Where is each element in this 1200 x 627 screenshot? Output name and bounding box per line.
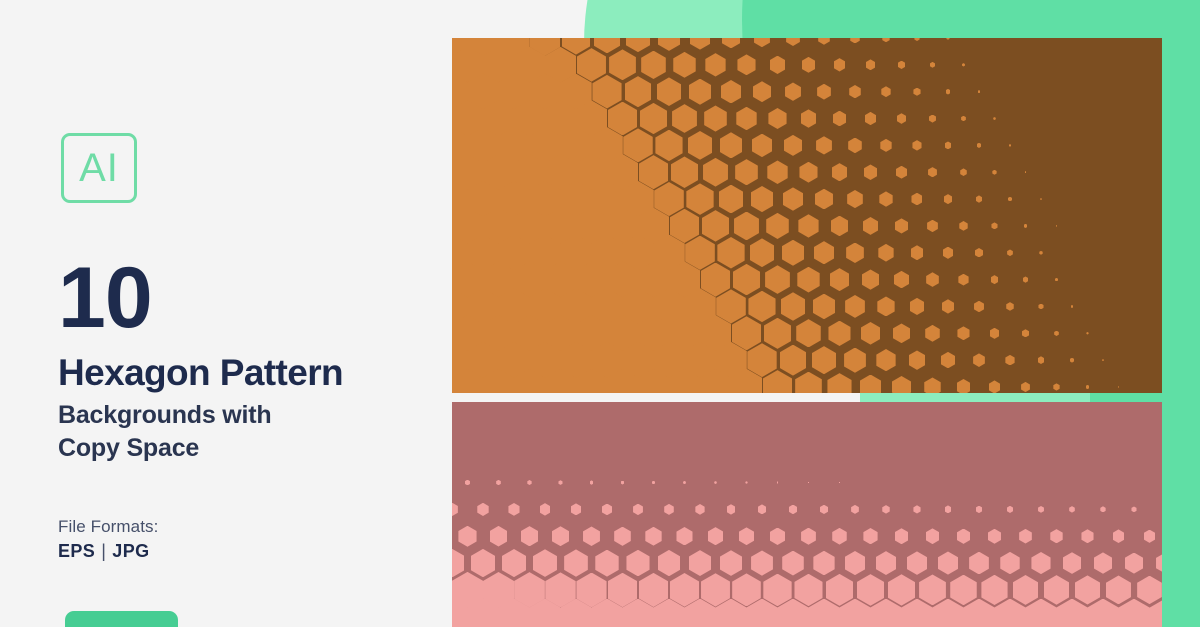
hexagon-cell	[702, 210, 729, 242]
hexagon-cell	[783, 187, 803, 210]
hexagon-cell	[640, 103, 667, 134]
hexagon-cell	[924, 377, 940, 393]
hexagon-cell	[833, 111, 847, 127]
hexagon-cell	[1069, 506, 1075, 513]
hexagon-cell	[1038, 506, 1044, 513]
page-subtitle-line-2: Copy Space	[58, 432, 272, 465]
hexagon-cell	[764, 318, 791, 349]
item-count: 10	[58, 255, 152, 341]
hexagon-cell	[880, 139, 891, 152]
hexagon-cell	[533, 549, 557, 577]
hexagon-cell	[595, 550, 618, 577]
hexagon-grid-orange	[452, 38, 1162, 393]
hexagon-cell	[851, 505, 859, 514]
hexagon-cell	[834, 58, 846, 71]
hexagon-cell	[1023, 276, 1028, 282]
hexagon-cell	[1007, 506, 1013, 513]
hexagon-cell	[594, 38, 621, 53]
hexagon-cell	[945, 141, 952, 149]
hexagon-cell	[714, 481, 717, 484]
hexagon-cell	[1131, 506, 1136, 512]
hexagon-cell	[832, 163, 848, 181]
hexagon-cell	[686, 183, 713, 215]
hexagon-cell	[626, 550, 649, 577]
hexagon-cell	[1044, 575, 1070, 605]
hexagon-cell	[701, 573, 730, 606]
hexagon-cell	[765, 265, 790, 294]
hexagon-cell	[981, 575, 1007, 605]
hexagon-cell	[827, 373, 851, 393]
hexagon-cell	[816, 136, 832, 154]
hexagon-cell	[876, 551, 897, 575]
hexagon-cell	[847, 190, 863, 208]
hexagon-cell	[621, 481, 624, 485]
hexagon-cell	[732, 573, 761, 606]
hexagon-grid-pink	[452, 402, 1162, 627]
hexagon-cell	[1118, 386, 1119, 387]
hexagon-cell	[1056, 599, 1088, 627]
hexagon-cell	[1050, 529, 1062, 543]
hexagon-cell	[754, 38, 770, 47]
hexagon-cell	[676, 527, 692, 546]
hexagon-cell	[590, 480, 594, 484]
hexagon-cell	[1031, 552, 1050, 574]
hexagon-cell	[991, 222, 997, 229]
hexagon-cell	[672, 104, 697, 133]
hexagon-cell	[752, 134, 772, 158]
hexagon-cell	[988, 529, 1001, 544]
hexagon-cell	[913, 505, 920, 513]
hexagon-cell	[879, 191, 892, 206]
hexagon-cell	[689, 550, 711, 576]
hexagon-cell	[882, 505, 889, 514]
hexagon-cell	[820, 505, 828, 514]
hexagon-cell	[1144, 530, 1155, 543]
hexagon-cell	[881, 86, 890, 97]
hexagon-cell	[1053, 383, 1059, 390]
hexagon-cell	[1025, 171, 1027, 173]
hexagon-cell	[991, 275, 999, 284]
hexagon-cell	[1007, 249, 1013, 256]
hexagon-cell	[641, 51, 666, 79]
hexagon-cell	[750, 238, 775, 267]
page-subtitle: Backgrounds with Copy Space	[58, 399, 272, 465]
hexagon-cell	[865, 112, 876, 125]
hexagon-cell	[801, 109, 817, 127]
hexagon-cell	[1063, 552, 1082, 574]
hexagon-cell	[973, 353, 985, 367]
hexagon-cell	[633, 504, 643, 515]
hexagon-cell	[957, 529, 970, 544]
hexagon-cell	[926, 272, 939, 287]
hexagon-cell	[782, 240, 804, 266]
hexagon-cell	[817, 84, 831, 100]
hexagon-cell	[745, 481, 747, 484]
hexagon-cell	[1113, 529, 1125, 543]
hexagon-cell	[452, 503, 458, 517]
hexagon-cell	[558, 480, 562, 485]
hexagon-cell	[1038, 304, 1043, 310]
hexagon-cell	[1070, 358, 1074, 363]
hexagon-cell	[564, 549, 588, 576]
hexagon-cell	[458, 526, 476, 547]
hexagon-cell	[963, 599, 995, 627]
hexagon-cell	[897, 113, 906, 124]
hexagon-cell	[1086, 332, 1088, 334]
hexagon-cell	[845, 295, 865, 318]
hexagon-cell	[815, 189, 833, 210]
hexagon-cell	[831, 216, 849, 237]
hexagon-cell	[658, 550, 681, 576]
hexagon-cell	[1094, 552, 1113, 573]
hexagon-cell	[683, 481, 686, 484]
hexagon-cell	[784, 135, 802, 156]
hexagon-cell	[830, 268, 850, 291]
file-formats-label: File Formats:	[58, 517, 158, 537]
hexagon-cell	[961, 116, 966, 121]
hexagon-cell	[1008, 197, 1012, 202]
hexagon-cell	[521, 526, 539, 546]
hexagon-cell	[938, 551, 958, 574]
page-title: Hexagon Pattern	[58, 353, 343, 393]
hexagon-cell	[911, 193, 922, 206]
hexagon-cell	[975, 248, 983, 257]
adobe-illustrator-badge: AI	[61, 133, 137, 203]
hexagon-cell	[704, 105, 727, 131]
file-format-eps: EPS	[58, 541, 95, 561]
hexagon-cell	[862, 269, 880, 289]
hexagon-cell	[721, 80, 741, 104]
hexagon-cell	[799, 162, 817, 183]
hexagon-cell	[863, 528, 877, 544]
hexagon-cell	[583, 526, 600, 546]
hexagon-cell	[927, 220, 938, 232]
hexagon-cell	[919, 574, 946, 605]
hexagon-cell	[848, 138, 862, 154]
hexagon-cell	[910, 298, 925, 315]
hexagon-cell	[736, 107, 756, 131]
hexagon-cell	[928, 167, 937, 177]
hexagon-cell	[1005, 355, 1014, 366]
hexagon-cell	[471, 549, 496, 577]
hexagon-cell	[929, 115, 936, 123]
hexagon-cell	[1081, 529, 1093, 543]
hexagon-cell	[720, 132, 743, 158]
file-format-separator: |	[95, 541, 112, 561]
hexagon-cell	[502, 549, 526, 577]
hexagon-cell	[609, 49, 636, 80]
hexagon-cell	[877, 296, 894, 316]
page-subtitle-line-1: Backgrounds with	[58, 399, 272, 432]
hexagon-cell	[1100, 506, 1105, 512]
hexagon-cell	[1118, 599, 1149, 627]
hexagon-cell	[719, 185, 744, 214]
hexagon-cell	[826, 574, 854, 606]
hexagon-cell	[655, 130, 682, 161]
hexagon-cell	[527, 480, 531, 485]
hexagon-cell	[907, 551, 927, 575]
hexagon-cell	[789, 505, 797, 515]
hexagon-cell	[717, 237, 744, 268]
hexagon-cell	[705, 53, 725, 76]
hexagon-cell	[1055, 278, 1058, 281]
hexagon-cell	[960, 168, 967, 176]
hexagon-cell	[994, 599, 1026, 627]
hexagon-cell	[958, 274, 968, 286]
hexagon-cell	[496, 480, 501, 485]
hexagon-cell	[767, 160, 787, 184]
hexagon-cell	[1000, 552, 1019, 574]
hexagon-cell	[798, 214, 818, 237]
hexagon-cell	[950, 575, 977, 606]
hexagon-cell	[801, 528, 816, 545]
hexagon-cell	[941, 352, 955, 368]
hexagon-cell	[1009, 144, 1011, 147]
hexagon-cell	[708, 527, 724, 545]
hexagon-cell	[864, 164, 877, 180]
hexagon-cell	[911, 245, 924, 260]
hexagon-cell	[786, 38, 800, 46]
hexagon-cell	[735, 159, 758, 185]
hexagon-cell	[1054, 331, 1059, 336]
hexagon-cell	[703, 158, 728, 187]
hexagon-cell	[1021, 382, 1030, 392]
hexagon-cell	[1013, 575, 1039, 605]
hexagon-cell	[673, 52, 695, 78]
hexagon-cell	[1086, 385, 1090, 389]
hexagon-cell	[839, 482, 840, 484]
hexagon-cell	[795, 372, 822, 393]
hexagon-cell	[777, 481, 779, 483]
adobe-illustrator-badge-label: AI	[79, 148, 119, 188]
hexagon-cell	[844, 348, 866, 373]
hexagon-cell	[946, 38, 949, 40]
hexagon-cell	[770, 528, 785, 545]
hexagon-cell	[828, 321, 850, 346]
hexagon-cell	[990, 328, 1000, 339]
hexagon-cell	[664, 504, 674, 515]
hexagon-cell	[814, 241, 834, 264]
hexagon-cell	[720, 550, 742, 576]
pink-hexagon-preview	[452, 402, 1162, 627]
hexagon-cell	[695, 504, 704, 515]
hexagon-cell	[727, 504, 736, 514]
hexagon-cell	[768, 108, 786, 129]
hexagon-cell	[909, 350, 926, 369]
hexagon-cell	[1137, 576, 1162, 604]
hexagon-cell	[751, 550, 773, 575]
hexagon-cell	[722, 38, 740, 48]
hexagon-cell	[812, 346, 836, 374]
hexagon-cell	[1025, 599, 1057, 627]
hexagon-cell	[930, 62, 935, 68]
hexagon-cell	[802, 57, 816, 73]
hexagon-cell	[974, 301, 984, 312]
hexagon-cell	[813, 551, 834, 576]
hexagon-cell	[992, 170, 996, 175]
hexagon-cell	[571, 503, 581, 515]
hexagon-cell	[957, 379, 971, 393]
hexagon-cell	[1056, 225, 1057, 227]
hexagon-cell	[763, 574, 791, 607]
hexagon-cell	[818, 38, 830, 45]
hexagon-cell	[490, 526, 508, 547]
hexagon-cell	[782, 551, 804, 576]
hexagon-cell	[976, 506, 983, 514]
hexagon-cell	[976, 195, 982, 202]
hexagon-cell	[645, 527, 661, 546]
hexagon-cell	[652, 481, 655, 485]
hexagon-cell	[898, 61, 905, 69]
orange-hexagon-preview	[452, 38, 1162, 393]
preview-canvas: AI 10 Hexagon Pattern Backgrounds with C…	[0, 0, 1200, 627]
hexagon-cell	[1102, 359, 1104, 361]
hexagon-cell	[748, 291, 775, 322]
hexagon-cell	[1024, 224, 1028, 228]
hexagon-cell	[614, 527, 631, 546]
hexagon-cell	[849, 85, 861, 98]
hexagon-cell	[845, 551, 866, 575]
hexagon-cell	[465, 480, 470, 486]
hexagon-cell	[508, 503, 519, 516]
hexagon-cell	[893, 323, 910, 343]
hexagon-cell	[959, 221, 967, 231]
hexagon-cell	[945, 505, 952, 513]
hexagon-cell	[926, 528, 940, 544]
hexagon-cell	[1040, 198, 1042, 200]
hexagon-cell	[477, 503, 488, 516]
hexagon-cell	[943, 247, 954, 259]
hexagon-cell	[751, 186, 774, 212]
hexagon-cell	[912, 140, 921, 150]
hexagon-cell	[942, 299, 954, 313]
hexagon-cell	[832, 528, 847, 545]
hexagon-cell	[888, 574, 915, 605]
hexagon-cell	[602, 504, 612, 516]
hexagon-cell	[671, 156, 698, 187]
hexagon-cell	[861, 322, 881, 345]
hexagon-cell	[625, 76, 652, 107]
hexagon-cell	[552, 526, 569, 546]
hexagon-cell	[1071, 305, 1074, 308]
cta-button[interactable]	[65, 611, 178, 627]
hexagon-cell	[739, 527, 754, 545]
hexagon-cell	[892, 376, 911, 393]
hexagon-cell	[577, 48, 606, 81]
file-formats-value: EPS|JPG	[58, 541, 150, 562]
hexagon-cell	[1075, 575, 1100, 604]
hexagon-cell	[781, 292, 806, 320]
hexagon-cell	[1125, 553, 1143, 574]
hexagon-cell	[978, 90, 981, 93]
hexagon-cell	[925, 325, 940, 342]
hexagon-cell	[452, 549, 464, 578]
hexagon-cell	[797, 267, 819, 293]
hexagon-cell	[690, 38, 710, 50]
hexagon-cell	[1038, 356, 1045, 364]
hexagon-cell	[957, 326, 969, 340]
hexagon-cell	[658, 38, 680, 51]
hexagon-cell	[896, 166, 907, 179]
hexagon-cell	[863, 217, 879, 235]
hexagon-cell	[813, 294, 835, 320]
hexagon-cell	[850, 38, 859, 43]
hexagon-cell	[1022, 329, 1029, 337]
hexagon-cell	[808, 482, 810, 484]
hexagon-cell	[1006, 302, 1014, 311]
hexagon-cell	[770, 56, 786, 74]
hexagon-cell	[895, 528, 909, 544]
hexagon-cell	[846, 243, 864, 263]
hexagon-cell	[895, 218, 908, 233]
hexagon-cell	[688, 131, 713, 160]
hexagon-cell	[753, 81, 771, 102]
hexagon-cell	[977, 143, 982, 148]
hexagon-cell	[766, 213, 789, 239]
hexagon-cell	[913, 88, 920, 96]
hexagon-cell	[794, 574, 822, 606]
hexagon-cell	[780, 345, 807, 376]
hexagon-cell	[626, 38, 650, 52]
hexagon-cell	[796, 319, 821, 347]
hexagon-cell	[785, 82, 801, 100]
hexagon-cell	[1039, 251, 1042, 255]
hexagon-cell	[894, 271, 909, 288]
hexagon-cell	[734, 212, 759, 241]
hexagon-cell	[882, 38, 889, 42]
hexagon-cell	[540, 503, 551, 515]
hexagon-cell	[914, 38, 919, 41]
hexagon-cell	[733, 264, 760, 295]
hexagon-cell	[944, 194, 953, 204]
hexagon-cell	[876, 349, 895, 371]
file-format-jpg: JPG	[112, 541, 149, 561]
hexagon-cell	[689, 79, 712, 105]
hexagon-cell	[758, 504, 767, 514]
hexagon-cell	[946, 89, 951, 95]
hexagon-cell	[1019, 529, 1032, 544]
info-column: AI 10 Hexagon Pattern Backgrounds with C…	[0, 0, 452, 627]
hexagon-cell	[1156, 553, 1162, 574]
hexagon-cell	[989, 380, 1000, 393]
hexagon-cell	[878, 244, 893, 262]
hexagon-cell	[993, 117, 996, 120]
hexagon-cell	[962, 63, 965, 66]
hexagon-cell	[657, 77, 682, 106]
hexagon-cell	[860, 375, 882, 393]
hexagon-cell	[1106, 575, 1131, 604]
hexagon-cell	[737, 54, 755, 75]
hexagon-cell	[857, 574, 884, 606]
hexagon-cell	[866, 59, 875, 70]
hexagon-cell	[969, 552, 989, 575]
hexagon-cell	[1087, 599, 1119, 627]
